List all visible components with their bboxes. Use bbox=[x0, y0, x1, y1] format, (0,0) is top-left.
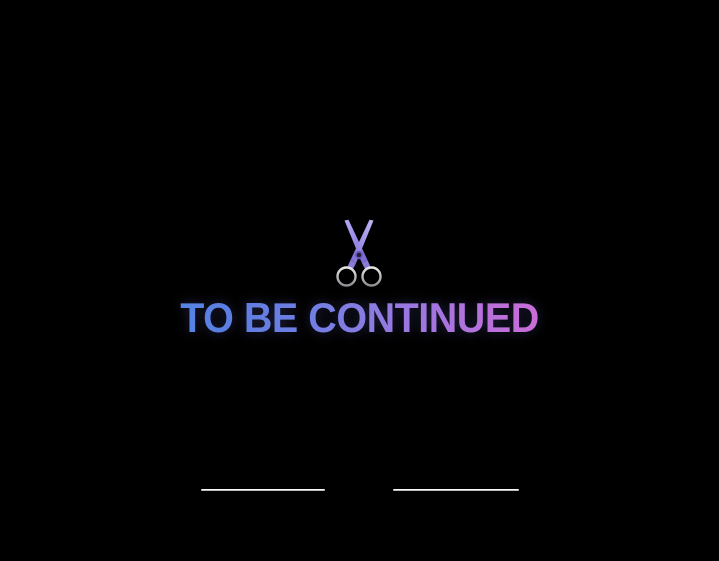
cut-here-guide bbox=[0, 212, 719, 290]
page-title: TO BE CONTINUED bbox=[22, 295, 698, 341]
cut-line-right bbox=[393, 489, 519, 491]
scissors-icon bbox=[327, 212, 391, 290]
screen-canvas: TO BE CONTINUED bbox=[0, 0, 719, 561]
cut-line-left bbox=[201, 489, 325, 491]
